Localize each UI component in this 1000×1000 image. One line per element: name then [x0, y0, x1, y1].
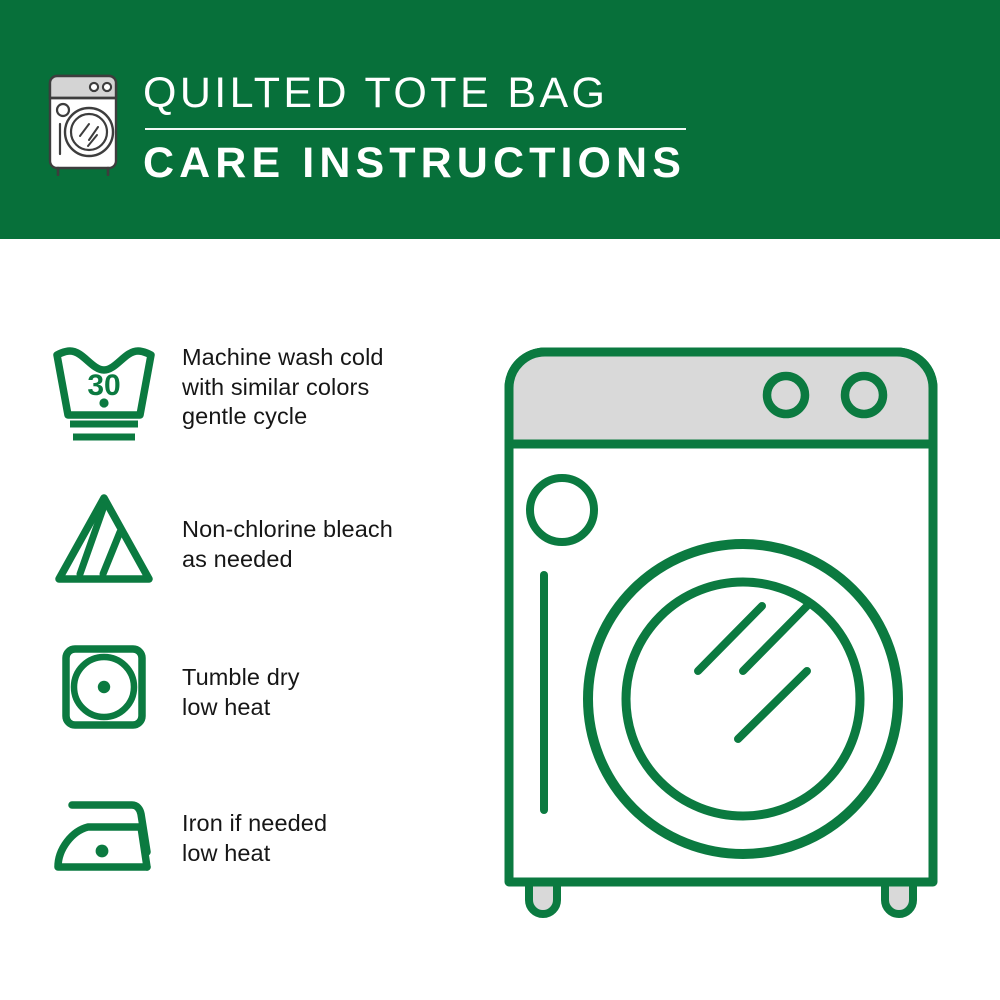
- non-chlorine-bleach-triangle-icon: [42, 489, 166, 589]
- care-instruction-text-dry: Tumble dry low heat: [182, 639, 300, 722]
- care-instruction-row-dry: Tumble dry low heat: [0, 639, 470, 739]
- care-instruction-row-wash: 30 Machine wash cold with similar colors…: [0, 343, 470, 447]
- control-knob-left: [767, 376, 805, 414]
- front-load-washing-machine-illustration: [487, 330, 967, 930]
- care-instruction-row-iron: Iron if needed low heat: [0, 789, 470, 881]
- control-knob-right: [845, 376, 883, 414]
- header-banner: QUILTED TOTE BAG CARE INSTRUCTIONS: [0, 0, 1000, 239]
- care-instruction-text-iron: Iron if needed low heat: [182, 789, 327, 868]
- care-instruction-text-wash: Machine wash cold with similar colors ge…: [182, 343, 384, 432]
- header-title-group: QUILTED TOTE BAG CARE INSTRUCTIONS: [143, 68, 763, 188]
- iron-low-heat-icon: [42, 789, 166, 881]
- washing-machine-icon: [44, 72, 126, 176]
- product-title: QUILTED TOTE BAG: [143, 68, 763, 118]
- page-title: CARE INSTRUCTIONS: [143, 138, 763, 188]
- wash-temperature-label: 30: [87, 369, 120, 402]
- door-inner-ring: [626, 582, 860, 816]
- care-instruction-row-bleach: Non-chlorine bleach as needed: [0, 489, 470, 589]
- wash-tub-30-gentle-icon: 30: [42, 343, 166, 447]
- tumble-dry-low-heat-icon: [42, 639, 166, 739]
- title-divider: [145, 128, 686, 130]
- care-instruction-text-bleach: Non-chlorine bleach as needed: [182, 489, 393, 574]
- care-instruction-list: 30 Machine wash cold with similar colors…: [0, 239, 470, 1000]
- indicator-circle: [530, 478, 594, 542]
